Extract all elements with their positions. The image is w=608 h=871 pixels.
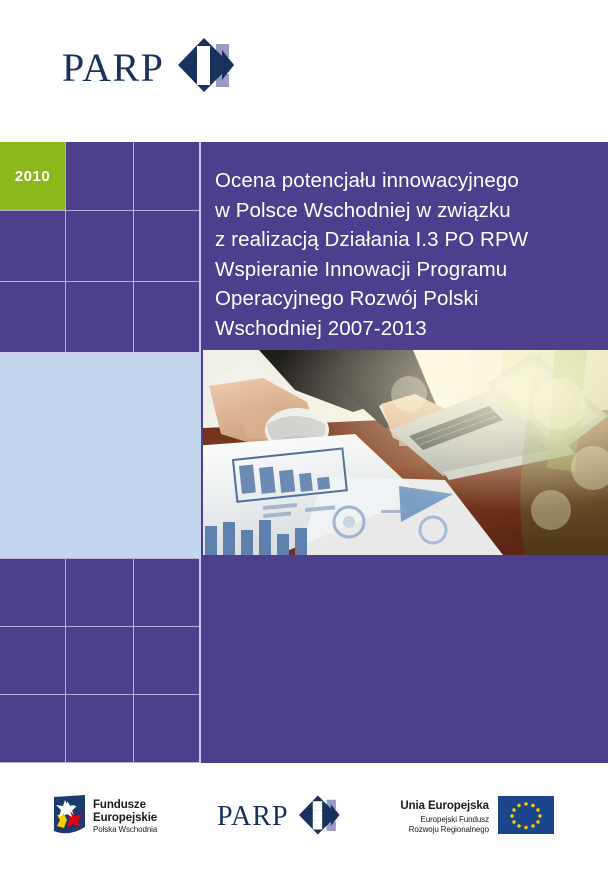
decorative-grid-pane: 2010 xyxy=(0,142,201,763)
parp-wordmark-header: PARP xyxy=(62,48,164,88)
year-badge-label: 2010 xyxy=(15,168,50,185)
fundusze-europejskie-logo: Fundusze Europejskie Polska Wschodnia xyxy=(54,795,157,840)
year-badge: 2010 xyxy=(0,142,65,210)
cover-photo xyxy=(203,350,608,555)
parp-diamond-arrow-icon xyxy=(178,36,236,99)
parp-diamond-arrow-icon xyxy=(299,794,341,841)
document-cover-page: PARP xyxy=(0,0,608,871)
grid-row-line xyxy=(0,210,201,211)
unia-line3: Rozwoju Regionalnego xyxy=(400,825,489,834)
unia-line2: Europejski Fundusz xyxy=(400,815,489,824)
parp-logo-header: PARP xyxy=(62,36,236,99)
light-blue-band xyxy=(0,352,201,558)
unia-europejska-logo: Unia Europejska Europejski Fundusz Rozwo… xyxy=(400,796,554,839)
grid-row-line xyxy=(0,558,201,559)
fundusze-line2: Europejskie xyxy=(93,812,157,825)
parp-logo-footer: PARP xyxy=(217,794,340,841)
grid-row-line xyxy=(0,694,201,695)
grid-row-line xyxy=(0,626,201,627)
page-footer: Fundusze Europejskie Polska Wschodnia PA… xyxy=(0,763,608,871)
eu-flag-icon xyxy=(498,796,554,839)
parp-wordmark-footer: PARP xyxy=(217,803,288,831)
fundusze-line1: Fundusze xyxy=(93,799,157,812)
unia-line1: Unia Europejska xyxy=(400,800,489,813)
page-header: PARP xyxy=(0,0,608,142)
title-pane: Ocena potencjału innowacyjnego w Polsce … xyxy=(203,142,608,350)
cover-color-block: 2010 Ocena potencjału innowacyjnego w Po… xyxy=(0,142,608,763)
fundusze-europejskie-flag-icon xyxy=(54,795,85,840)
fundusze-line3: Polska Wschodnia xyxy=(93,826,157,835)
page-title: Ocena potencjału innowacyjnego w Polsce … xyxy=(215,166,588,343)
grid-row-line xyxy=(0,281,201,282)
